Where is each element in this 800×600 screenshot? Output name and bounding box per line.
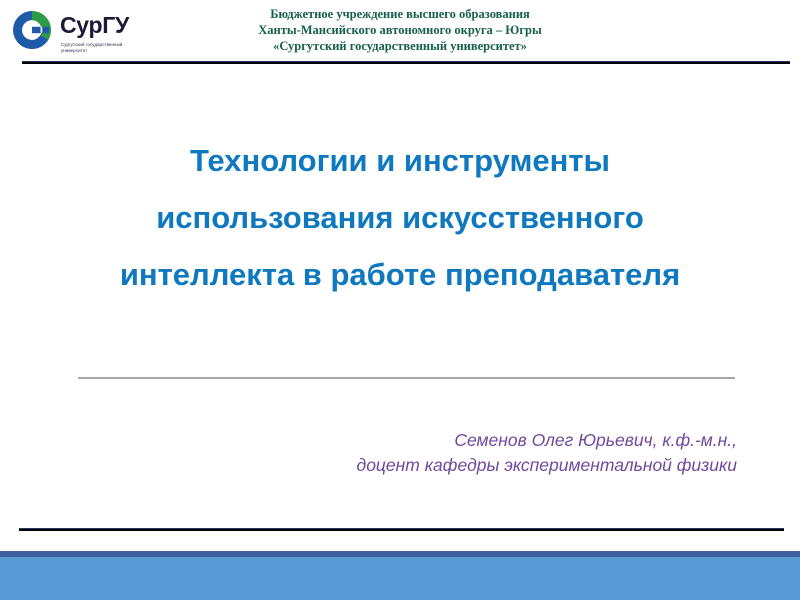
slide-title-line-2: использования искусственного [70,189,730,246]
author-position: доцент кафедры экспериментальной физики [180,453,737,478]
organization-title-line-1: Бюджетное учреждение высшего образования [150,6,650,22]
author-credits: Семенов Олег Юрьевич, к.ф.-м.н., доцент … [180,428,737,478]
footer-divider-rule [19,528,784,531]
logo-wordmark: СурГУ [60,14,129,37]
header-divider-rule [22,61,790,64]
footer-band-light [0,557,800,600]
logo-subtitle-line-2: университет [61,48,87,53]
organization-title-line-2: Ханты-Мансийского автономного округа – Ю… [150,22,650,38]
slide-title: Технологии и инструменты использования и… [70,132,730,303]
title-separator-rule [78,377,735,379]
author-name: Семенов Олег Юрьевич, к.ф.-м.н., [180,428,737,453]
university-logo: СурГУ Сургутский государственный универс… [8,6,148,58]
organization-title-line-3: «Сургутский государственный университет» [150,38,650,54]
surgu-logo-icon [10,8,54,52]
logo-subtitle: Сургутский государственный университет [61,42,156,53]
logo-subtitle-line-1: Сургутский государственный [61,42,122,47]
slide-title-line-3: интеллекта в работе преподавателя [70,246,730,303]
presentation-slide: СурГУ Сургутский государственный универс… [0,0,800,600]
slide-header: СурГУ Сургутский государственный универс… [0,0,800,62]
organization-title: Бюджетное учреждение высшего образования… [150,6,650,54]
slide-title-line-1: Технологии и инструменты [70,132,730,189]
